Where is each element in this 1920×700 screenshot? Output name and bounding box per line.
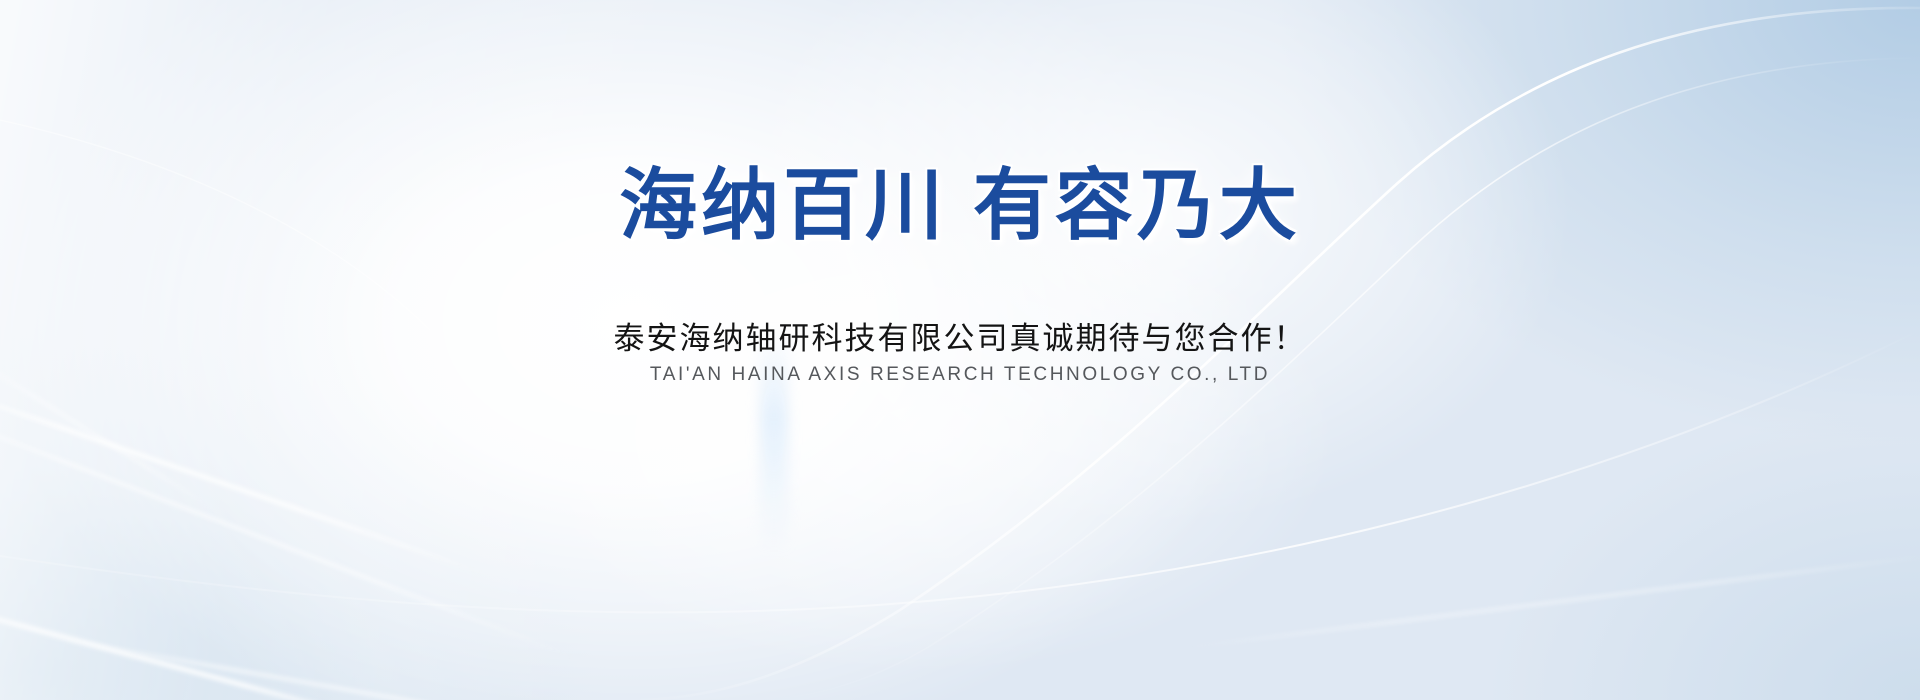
banner-subtitle-english: TAI'AN HAINA AXIS RESEARCH TECHNOLOGY CO…	[0, 364, 1920, 386]
light-streak-2	[0, 384, 575, 659]
light-shaft	[760, 330, 788, 550]
light-streak-6	[1183, 554, 1920, 650]
banner-subtitle-chinese: 泰安海纳轴研科技有限公司真诚期待与您合作！	[0, 313, 1920, 358]
hero-banner: 海纳百川 有容乃大 泰安海纳轴研科技有限公司真诚期待与您合作！ TAI'AN H…	[0, 0, 1920, 700]
light-streak-5	[45, 634, 676, 700]
light-streak-1	[0, 369, 484, 575]
banner-headline: 海纳百川 有容乃大	[0, 166, 1920, 244]
light-streak-3	[0, 583, 411, 700]
